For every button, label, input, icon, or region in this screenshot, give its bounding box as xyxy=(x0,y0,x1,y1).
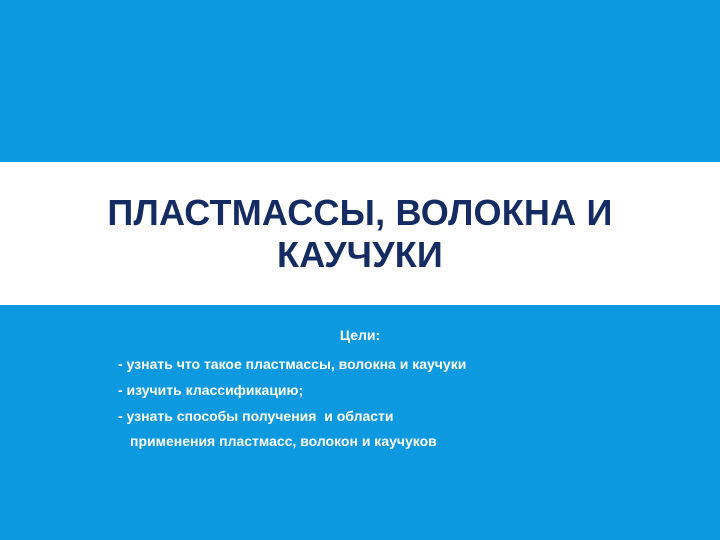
goals-list: - узнать что такое пластмассы, волокна и… xyxy=(118,351,678,454)
list-item: - узнать что такое пластмассы, волокна и… xyxy=(118,351,678,377)
slide-title: Пластмассы, волокна и каучуки xyxy=(70,192,650,276)
list-item: - изучить классификацию; xyxy=(118,377,678,403)
title-band: Пластмассы, волокна и каучуки xyxy=(0,162,720,305)
content-band: Цели: - узнать что такое пластмассы, вол… xyxy=(0,305,720,540)
top-blue-banner xyxy=(0,0,720,162)
list-item: - узнать способы получения и области xyxy=(118,403,678,429)
presentation-slide: Пластмассы, волокна и каучуки Цели: - уз… xyxy=(0,0,720,540)
goals-heading: Цели: xyxy=(0,326,720,344)
list-item: применения пластмасс, волокон и каучуков xyxy=(118,429,678,454)
